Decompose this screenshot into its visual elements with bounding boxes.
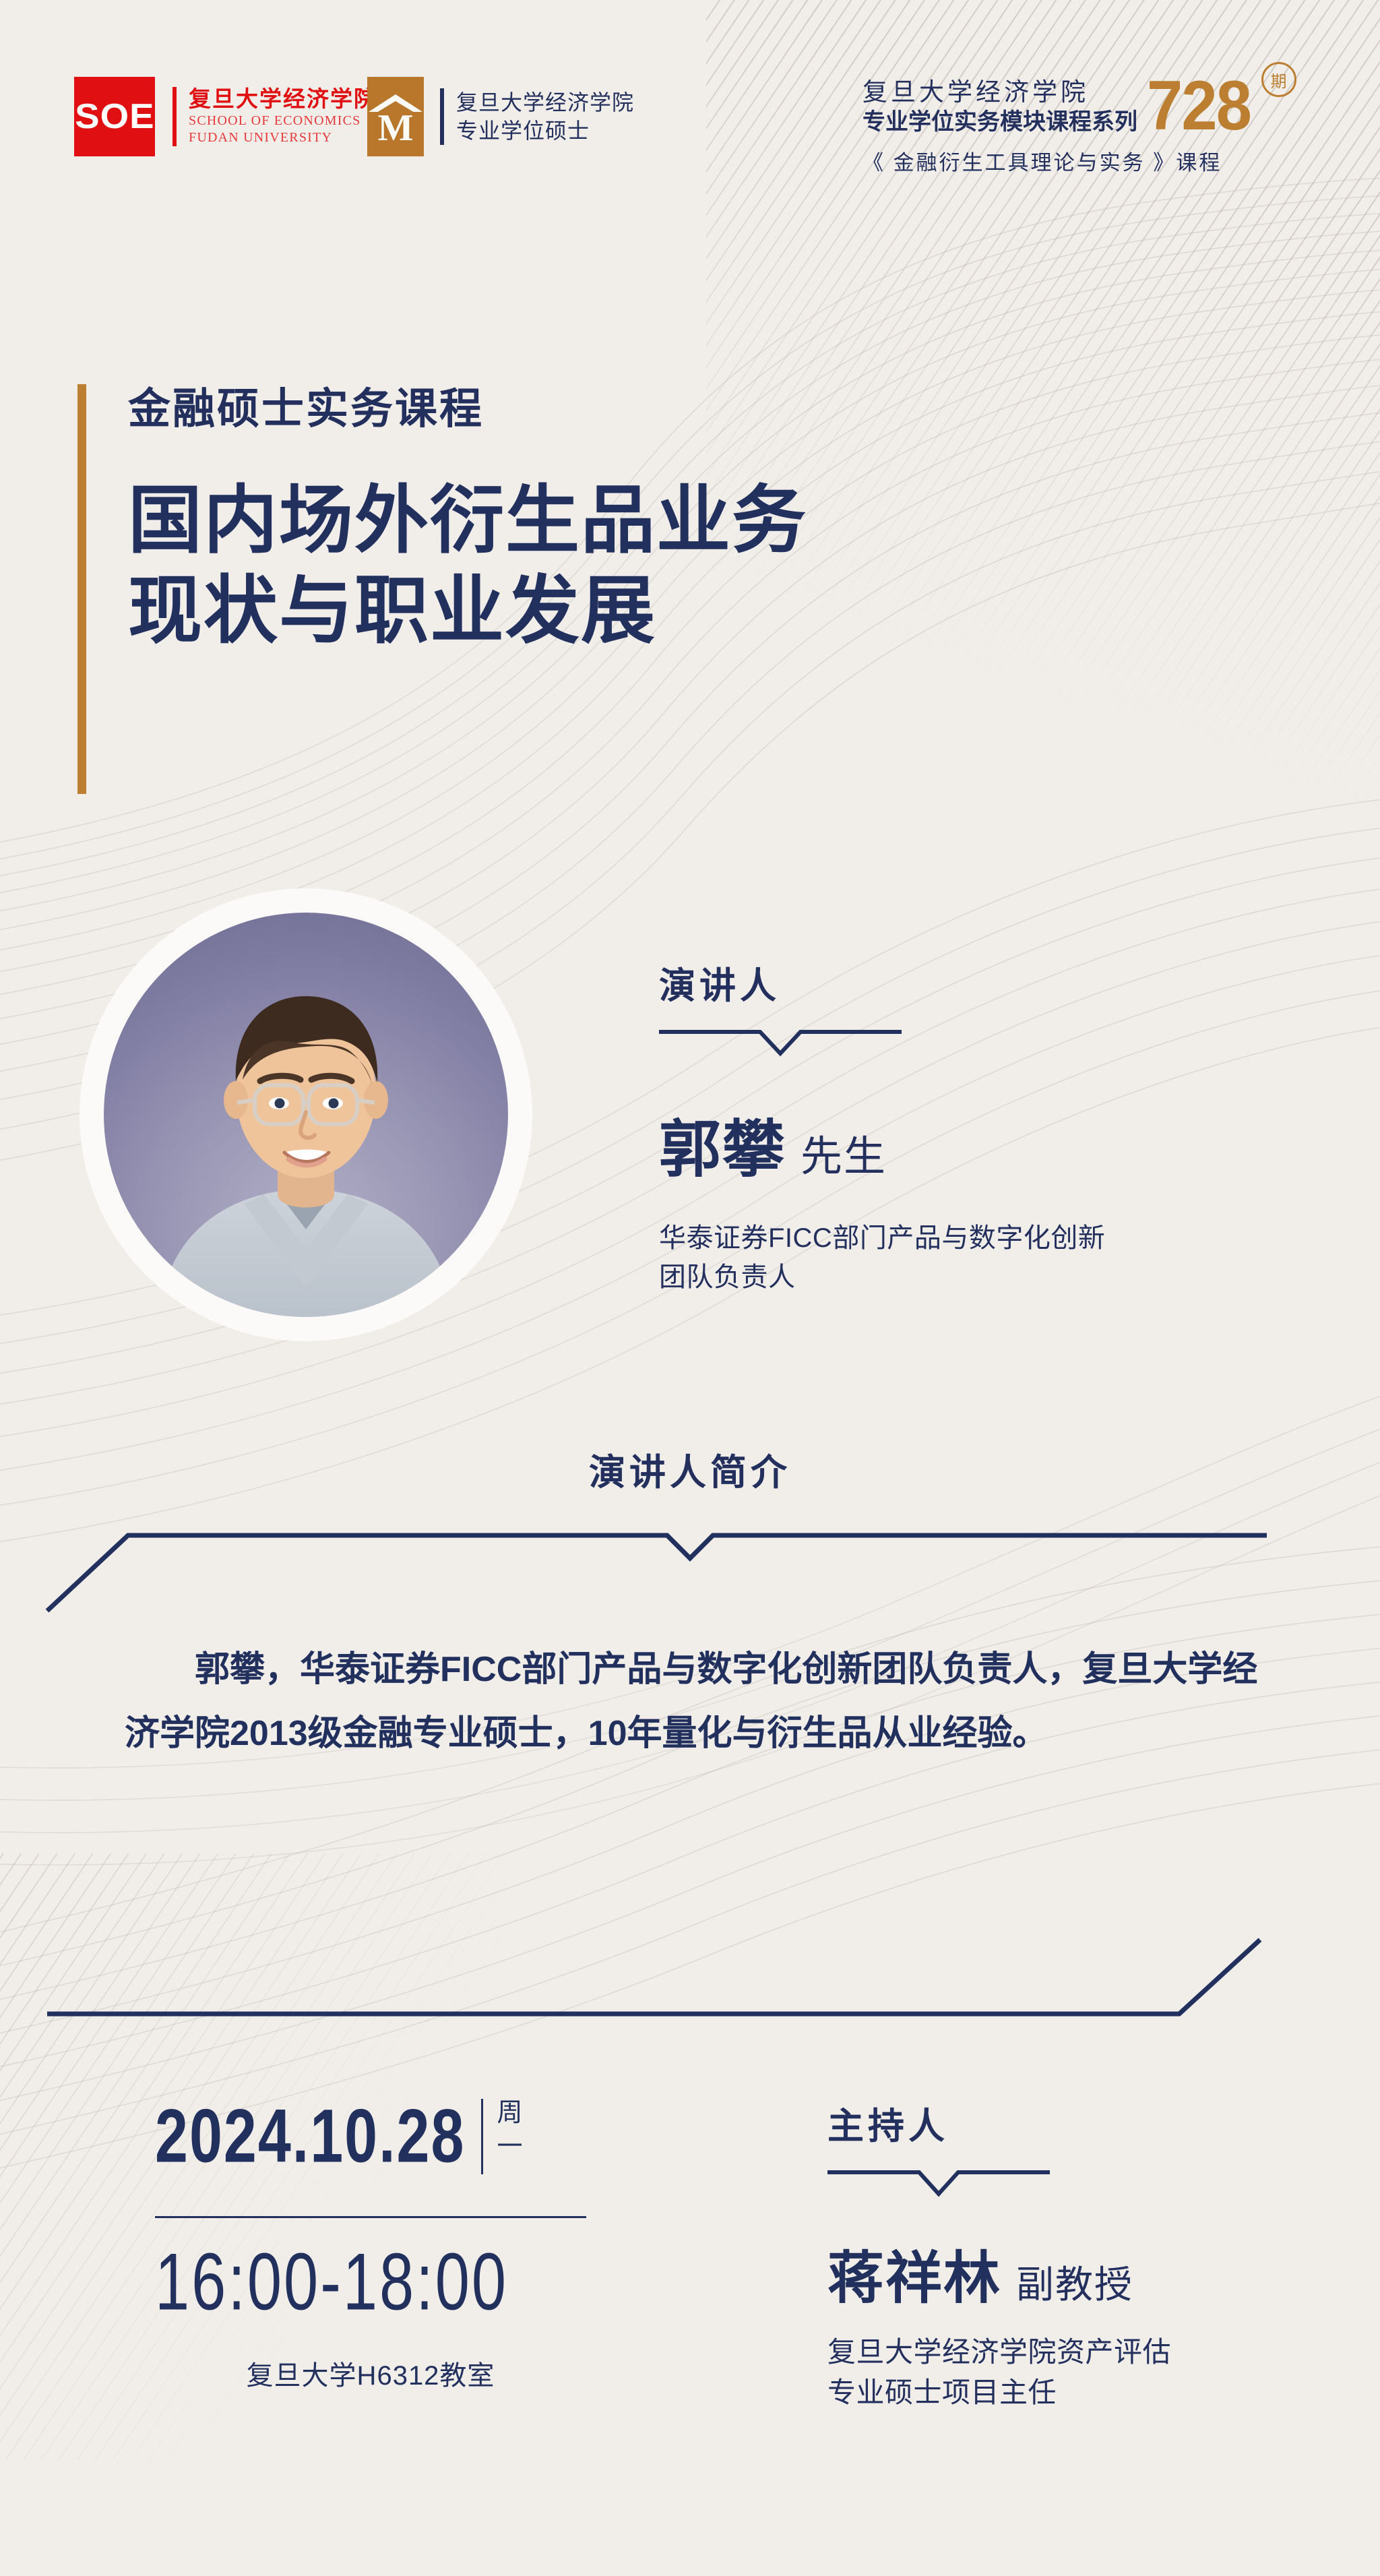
- poster-header: SOE 复旦大学经济学院 SCHOOL OF ECONOMICS FUDAN U…: [74, 62, 1327, 197]
- masters-mark-letter: M: [367, 109, 424, 147]
- page-title: 国内场外衍生品业务 现状与职业发展: [128, 476, 807, 656]
- poster-root: SOE 复旦大学经济学院 SCHOOL OF ECONOMICS FUDAN U…: [0, 0, 1380, 2576]
- host-name-row: 蒋祥林 副教授: [827, 2233, 1340, 2314]
- series-block: 复旦大学经济学院 专业学位实务模块课程系列 728 期 《 金融衍生工具理论与实…: [862, 62, 1334, 176]
- date-vertical-divider: [481, 2099, 483, 2174]
- soe-logo-text: 复旦大学经济学院 SCHOOL OF ECONOMICS FUDAN UNIVE…: [172, 87, 377, 147]
- masters-logo: M 复旦大学经济学院 专业学位硕士: [367, 77, 634, 156]
- title-accent-bar: [77, 384, 86, 794]
- title-section: 金融硕士实务课程 国内场外衍生品业务 现状与职业发展: [77, 384, 807, 794]
- speaker-name: 郭攀: [659, 1099, 786, 1189]
- avatar-photo: [104, 913, 508, 1317]
- host-section: 主持人 蒋祥林 副教授 复旦大学经济学院资产评估 专业硕士项目主任: [827, 2096, 1340, 2412]
- host-name: 蒋祥林: [827, 2233, 1001, 2314]
- series-row: 复旦大学经济学院 专业学位实务模块课程系列 728 期: [862, 62, 1334, 136]
- host-org-line2: 专业硕士项目主任: [827, 2372, 1340, 2413]
- speaker-avatar: [80, 888, 532, 1341]
- speaker-name-row: 郭攀 先生: [659, 1099, 1333, 1189]
- date-row: 2024.10.28 周 一: [155, 2096, 667, 2177]
- event-venue: 复旦大学H6312教室: [155, 2354, 586, 2393]
- title-line-2: 现状与职业发展: [128, 566, 807, 656]
- series-line1: 复旦大学经济学院: [862, 77, 1137, 107]
- masters-line1: 复旦大学经济学院: [456, 88, 634, 117]
- bio-section-label: 演讲人简介: [0, 1442, 1380, 1496]
- soe-en-line1: SCHOOL OF ECONOMICS: [189, 113, 377, 129]
- masters-logo-text: 复旦大学经济学院 专业学位硕士: [440, 88, 634, 145]
- portrait-illustration: [104, 913, 508, 1317]
- masters-line2: 专业学位硕士: [456, 117, 634, 145]
- speaker-chevron-divider: [659, 1025, 1333, 1057]
- speaker-org-line1: 华泰证券FICC部门产品与数字化创新: [659, 1219, 1333, 1258]
- weekday: 周 一: [497, 2096, 523, 2177]
- event-date: 2024.10.28: [155, 2096, 465, 2200]
- title-kicker: 金融硕士实务课程: [128, 384, 807, 435]
- speaker-section-label: 演讲人: [659, 956, 1333, 1009]
- series-text: 复旦大学经济学院 专业学位实务模块课程系列: [862, 77, 1137, 136]
- date-horizontal-rule: [155, 2216, 586, 2218]
- series-course-name: 《 金融衍生工具理论与实务 》课程: [862, 146, 1334, 176]
- bio-frame-decoration: [0, 1530, 1380, 2022]
- soe-mark-icon: SOE: [74, 77, 155, 156]
- schedule-section: 2024.10.28 周 一 16:00-18:00 复旦大学H6312教室: [155, 2096, 667, 2393]
- host-organization: 复旦大学经济学院资产评估 专业硕士项目主任: [827, 2332, 1340, 2412]
- event-time: 16:00-18:00: [155, 2238, 667, 2327]
- speaker-organization: 华泰证券FICC部门产品与数字化创新 团队负责人: [659, 1219, 1333, 1297]
- speaker-org-line2: 团队负责人: [659, 1258, 1333, 1297]
- soe-cn-name: 复旦大学经济学院: [189, 87, 377, 113]
- series-line2: 专业学位实务模块课程系列: [862, 108, 1137, 137]
- soe-logo: SOE 复旦大学经济学院 SCHOOL OF ECONOMICS FUDAN U…: [74, 77, 377, 156]
- weekday-line1: 周: [497, 2096, 523, 2130]
- soe-en-line2: FUDAN UNIVERSITY: [189, 129, 377, 146]
- title-line-1: 国内场外衍生品业务: [128, 476, 807, 566]
- speaker-honorific: 先生: [801, 1122, 887, 1183]
- series-number: 728: [1147, 76, 1251, 136]
- soe-mark-text: SOE: [75, 96, 154, 137]
- weekday-line2: 一: [497, 2130, 523, 2164]
- masters-mark-icon: M: [367, 77, 424, 156]
- host-title: 副教授: [1016, 2255, 1133, 2309]
- title-texts: 金融硕士实务课程 国内场外衍生品业务 现状与职业发展: [128, 384, 807, 794]
- host-org-line1: 复旦大学经济学院资产评估: [827, 2332, 1340, 2372]
- bio-text: 郭攀，华泰证券FICC部门产品与数字化创新团队负责人，复旦大学经济学院2013级…: [125, 1638, 1270, 1765]
- speaker-section: 演讲人 郭攀 先生 华泰证券FICC部门产品与数字化创新 团队负责人: [659, 956, 1333, 1297]
- host-chevron-divider: [827, 2166, 1340, 2198]
- host-section-label: 主持人: [827, 2096, 1340, 2149]
- series-issue-badge: 期: [1261, 62, 1296, 97]
